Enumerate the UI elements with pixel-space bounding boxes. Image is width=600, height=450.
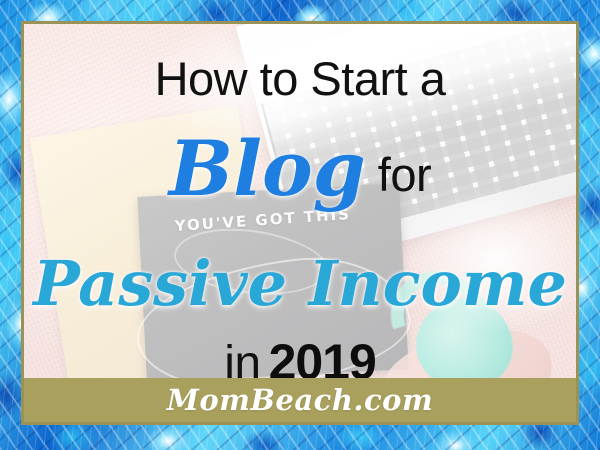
- pinterest-pin-graphic: YOU'VE GOT THIS How to Start a Blogfor P…: [0, 0, 600, 450]
- brand-footer-bar: MomBeach.com: [24, 378, 576, 422]
- headline-passive-income-script: Passive Income: [33, 247, 567, 320]
- headline-for-text: for: [378, 148, 431, 201]
- headline-line-1-text: How to Start a: [155, 52, 446, 105]
- headline-overlay: How to Start a Blogfor Passive Income in…: [24, 24, 576, 422]
- brand-logo-text: MomBeach.com: [167, 383, 433, 417]
- headline-blog-script: Blog: [169, 124, 366, 213]
- inner-olive-frame: YOU'VE GOT THIS How to Start a Blogfor P…: [21, 21, 579, 425]
- headline-line-2: Blogfor: [24, 129, 576, 227]
- headline-line-3: Passive Income: [24, 246, 576, 339]
- headline-line-1: How to Start a: [24, 52, 576, 106]
